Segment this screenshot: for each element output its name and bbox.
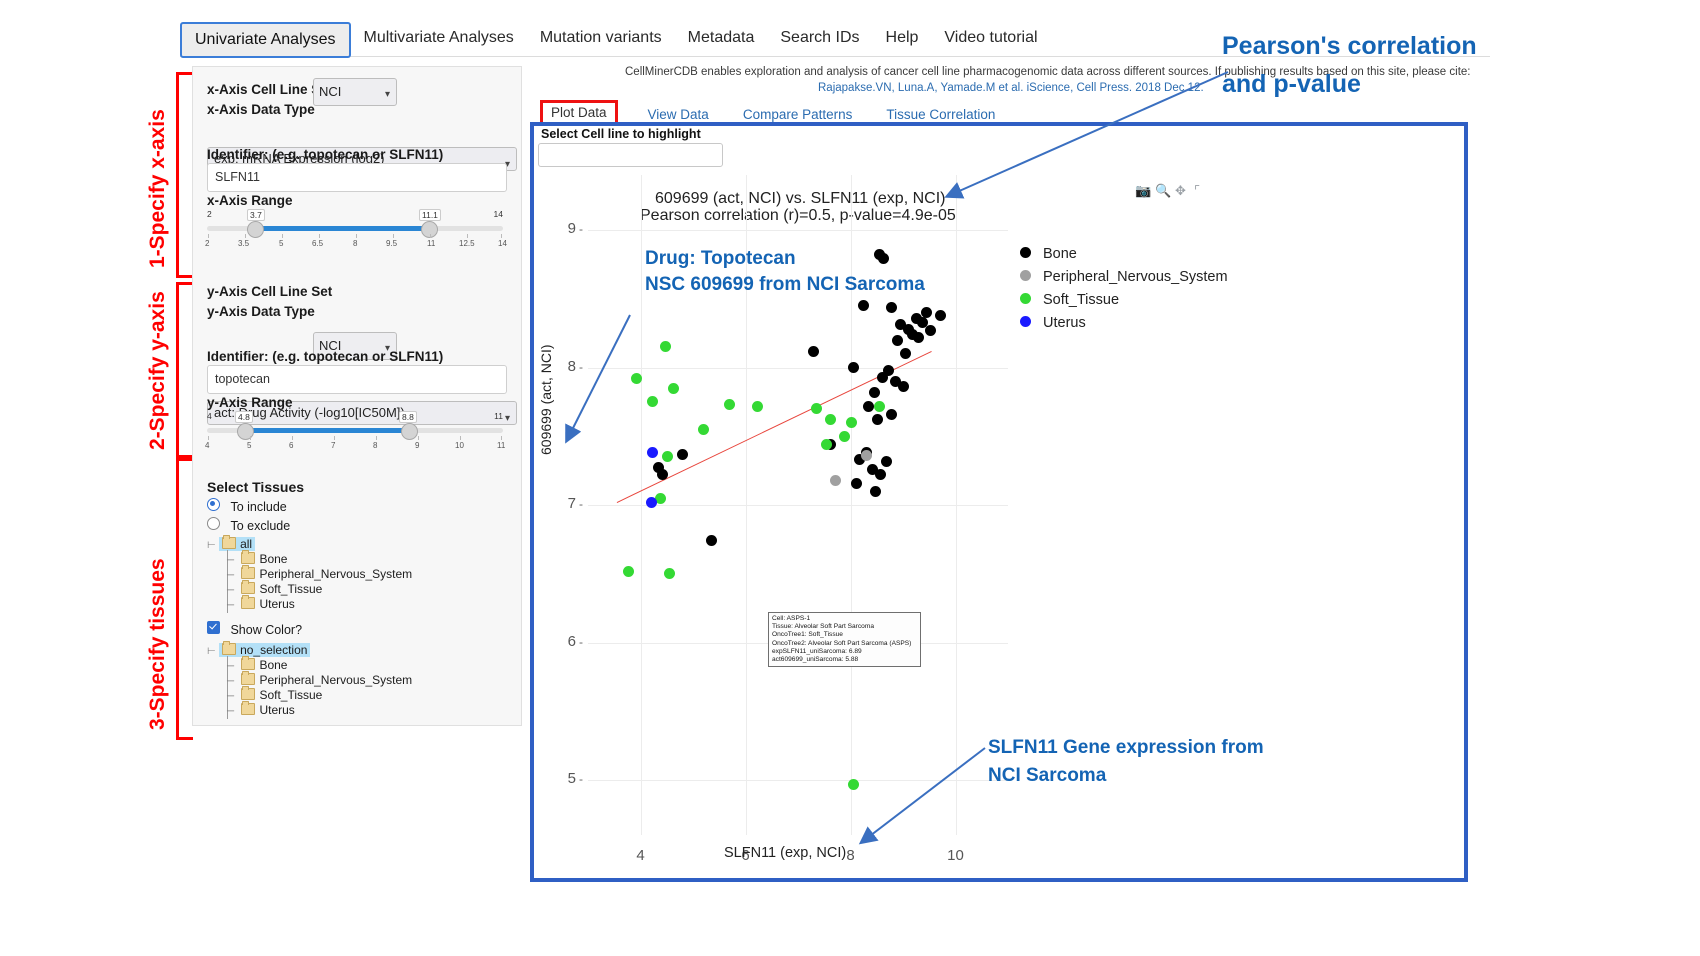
tree-node-no-selection-label: no_selection bbox=[240, 643, 307, 657]
scatter-point[interactable] bbox=[662, 451, 673, 462]
show-color-checkbox[interactable]: Show Color? bbox=[207, 621, 302, 639]
scatter-point[interactable] bbox=[886, 409, 897, 420]
step1-label: 1-Specify x-axis bbox=[146, 109, 170, 268]
x-slider-tick: 8 bbox=[353, 239, 357, 248]
tissue-tree-include: ⊢ all ─ Bone ─ Peripheral_Nervous_System… bbox=[207, 537, 497, 617]
scatter-point[interactable] bbox=[825, 414, 836, 425]
scatter-point[interactable] bbox=[848, 362, 859, 373]
y-axis-tick-label: 5 bbox=[542, 770, 576, 787]
x-slider-tick: 12.5 bbox=[459, 239, 475, 248]
nav-tab-metadata[interactable]: Metadata bbox=[675, 22, 768, 54]
citation-line-2[interactable]: Rajapakse.VN, Luna.A, Yamade.M et al. iS… bbox=[818, 82, 1204, 94]
x-slider-tick: 2 bbox=[205, 239, 209, 248]
plot-subtabs: Plot Data View Data Compare Patterns Tis… bbox=[540, 100, 1240, 124]
legend-label: Peripheral_Nervous_System bbox=[1043, 269, 1228, 285]
tree2-item-peripheral-nervous-system[interactable]: ─ Peripheral_Nervous_System bbox=[227, 673, 412, 687]
y-axis-tick-mark: - bbox=[579, 497, 583, 511]
gene-annotation-line1: SLFN11 Gene expression from bbox=[988, 737, 1264, 759]
zoom-in-icon[interactable]: 🔍 bbox=[1155, 183, 1171, 199]
y-axis-tick-label: 9 bbox=[542, 220, 576, 237]
x-axis-tick-label: 10 bbox=[936, 847, 976, 864]
scatter-point[interactable] bbox=[839, 431, 850, 442]
nav-tab-help[interactable]: Help bbox=[873, 22, 932, 54]
folder-icon bbox=[241, 597, 255, 609]
x-slider-tick: 14 bbox=[498, 239, 507, 248]
step3-label: 3-Specify tissues bbox=[146, 558, 170, 730]
tree-item-peripheral-nervous-system[interactable]: ─ Peripheral_Nervous_System bbox=[227, 567, 412, 581]
step3-bracket bbox=[176, 458, 193, 740]
checkbox-icon bbox=[207, 621, 220, 634]
scatter-point[interactable] bbox=[925, 325, 936, 336]
folder-icon bbox=[241, 688, 255, 700]
folder-icon bbox=[241, 567, 255, 579]
nav-tab-search-ids[interactable]: Search IDs bbox=[767, 22, 872, 54]
legend-item-soft-tissue[interactable]: Soft_Tissue bbox=[1020, 291, 1228, 314]
y-axis-tick-label: 7 bbox=[542, 495, 576, 512]
tree-item-uterus[interactable]: ─ Uterus bbox=[227, 597, 295, 611]
tooltip-line: Tissue: Alveolar Soft Part Sarcoma bbox=[772, 623, 917, 631]
y-slider-handle-low[interactable] bbox=[237, 423, 254, 440]
scatter-point[interactable] bbox=[811, 403, 822, 414]
scatter-point[interactable] bbox=[660, 341, 671, 352]
legend-color-swatch bbox=[1020, 293, 1031, 304]
tissue-tree-no-selection: ⊢ no_selection ─ Bone ─ Peripheral_Nervo… bbox=[207, 643, 497, 723]
tree-item-label: Uterus bbox=[259, 597, 294, 611]
y-axis-identifier-value: topotecan bbox=[215, 372, 270, 386]
scatter-point[interactable] bbox=[913, 332, 924, 343]
gene-annotation-line2: NCI Sarcoma bbox=[988, 765, 1106, 787]
scatter-point[interactable] bbox=[830, 475, 841, 486]
y-axis-tick-mark: - bbox=[579, 635, 583, 649]
scatter-point[interactable] bbox=[900, 348, 911, 359]
y-axis-cellline-label: y-Axis Cell Line Set bbox=[207, 283, 332, 301]
scatter-point[interactable] bbox=[872, 414, 883, 425]
select-tissues-title: Select Tissues bbox=[207, 479, 304, 495]
y-axis-tick-mark: - bbox=[579, 772, 583, 786]
x-axis-identifier-value: SLFN11 bbox=[215, 170, 260, 184]
radio-to-exclude[interactable]: To exclude bbox=[207, 517, 290, 535]
tree-item-soft-tissue[interactable]: ─ Soft_Tissue bbox=[227, 582, 322, 596]
tooltip-line: Cell: ASPS-1 bbox=[772, 615, 917, 623]
x-slider-high-value: 11.1 bbox=[419, 209, 441, 221]
highlight-cellline-label: Select Cell line to highlight bbox=[541, 127, 701, 141]
x-axis-label: SLFN11 (exp, NCI) bbox=[724, 845, 846, 861]
plot-legend: Bone Peripheral_Nervous_System Soft_Tiss… bbox=[1020, 245, 1228, 337]
y-slider-high-value: 8.8 bbox=[399, 411, 417, 423]
scatter-point[interactable] bbox=[878, 253, 889, 264]
y-slider-tick: 6 bbox=[289, 441, 293, 450]
scatter-point[interactable] bbox=[869, 387, 880, 398]
legend-label: Bone bbox=[1043, 246, 1077, 262]
scatter-point[interactable] bbox=[886, 302, 897, 313]
tree-item-label: Uterus bbox=[259, 703, 294, 717]
x-slider-tick: 9.5 bbox=[386, 239, 397, 248]
scatter-point[interactable] bbox=[892, 335, 903, 346]
scatter-point[interactable] bbox=[752, 401, 763, 412]
scatter-point[interactable] bbox=[851, 478, 862, 489]
folder-icon bbox=[241, 582, 255, 594]
highlight-cellline-input[interactable] bbox=[538, 143, 723, 167]
folder-icon bbox=[222, 643, 236, 655]
tooltip-line: OncoTree1: Soft_Tissue bbox=[772, 631, 917, 639]
y-axis-tick-label: 6 bbox=[542, 633, 576, 650]
show-color-label: Show Color? bbox=[230, 623, 302, 637]
scatter-point[interactable] bbox=[875, 469, 886, 480]
scatter-point[interactable] bbox=[664, 568, 675, 579]
radio-include-label: To include bbox=[230, 500, 286, 514]
grid-line-horizontal bbox=[588, 230, 1008, 231]
scatter-point[interactable] bbox=[631, 373, 642, 384]
chevron-down-icon: ▾ bbox=[505, 408, 510, 430]
scatter-point[interactable] bbox=[646, 497, 657, 508]
nav-tab-univariate-analyses[interactable]: Univariate Analyses bbox=[180, 22, 351, 58]
pan-icon[interactable]: ✥ bbox=[1175, 183, 1186, 199]
legend-item-bone[interactable]: Bone bbox=[1020, 245, 1228, 268]
x-slider-handle-low[interactable] bbox=[247, 221, 264, 238]
tooltip-line: act609699_uniSarcoma: 5.88 bbox=[772, 656, 917, 664]
radio-exclude-icon bbox=[207, 517, 220, 530]
scatter-point[interactable] bbox=[808, 346, 819, 357]
x-slider-tick: 3.5 bbox=[238, 239, 249, 248]
y-slider-tick: 10 bbox=[455, 441, 464, 450]
y-slider-min-end: 4 bbox=[207, 411, 212, 421]
y-axis-range-label: y-Axis Range bbox=[207, 395, 293, 410]
legend-item-uterus[interactable]: Uterus bbox=[1020, 314, 1228, 337]
tree2-item-bone[interactable]: ─ Bone bbox=[227, 658, 287, 672]
tree-node-no-selection[interactable]: ⊢ no_selection bbox=[207, 643, 310, 657]
camera-icon[interactable]: 📷 bbox=[1135, 183, 1151, 199]
scatter-point[interactable] bbox=[655, 493, 666, 504]
scatter-point[interactable] bbox=[877, 372, 888, 383]
tree2-item-uterus[interactable]: ─ Uterus bbox=[227, 703, 295, 717]
tree-item-label: Peripheral_Nervous_System bbox=[259, 567, 412, 581]
drug-annotation-line2: NSC 609699 from NCI Sarcoma bbox=[645, 274, 925, 296]
scatter-point[interactable] bbox=[858, 300, 869, 311]
x-axis-cellline-select[interactable]: NCI ▾ bbox=[313, 78, 397, 106]
radio-include-icon bbox=[207, 498, 220, 511]
autoscale-icon[interactable]: ⌜ bbox=[1194, 183, 1200, 199]
scatter-point[interactable] bbox=[898, 381, 909, 392]
y-slider-tick: 4 bbox=[205, 441, 209, 450]
tree-item-label: Bone bbox=[259, 658, 287, 672]
scatter-point[interactable] bbox=[647, 447, 658, 458]
scatter-point[interactable] bbox=[668, 383, 679, 394]
x-axis-identifier-label: Identifier: (e.g. topotecan or SLFN11) bbox=[207, 147, 443, 162]
legend-color-swatch bbox=[1020, 316, 1031, 327]
legend-label: Soft_Tissue bbox=[1043, 292, 1119, 308]
y-slider-tick: 8 bbox=[373, 441, 377, 450]
y-slider-tick: 11 bbox=[497, 441, 505, 450]
tree2-item-soft-tissue[interactable]: ─ Soft_Tissue bbox=[227, 688, 322, 702]
x-axis-tick-label: 4 bbox=[621, 847, 661, 864]
x-axis-datatype-label: x-Axis Data Type bbox=[207, 102, 315, 117]
y-axis-datatype-label: y-Axis Data Type bbox=[207, 304, 315, 319]
y-slider-max-end: 11 bbox=[494, 411, 503, 421]
tree-item-bone[interactable]: ─ Bone bbox=[227, 552, 287, 566]
folder-icon bbox=[241, 552, 255, 564]
scatter-point[interactable] bbox=[870, 486, 881, 497]
y-slider-handle-high[interactable] bbox=[401, 423, 418, 440]
x-axis-range-slider[interactable]: 2 14 3.7 11.1 2 3.5 5 6.5 8 9.5 11 12.5 … bbox=[207, 209, 503, 254]
nav-tab-mutation-variants[interactable]: Mutation variants bbox=[527, 22, 675, 54]
drug-annotation-line1: Drug: Topotecan bbox=[645, 248, 796, 270]
scatter-point[interactable] bbox=[861, 450, 872, 461]
scatter-point[interactable] bbox=[935, 310, 946, 321]
x-axis-range-label: x-Axis Range bbox=[207, 193, 293, 208]
grid-line-horizontal bbox=[588, 780, 1008, 781]
scatter-point[interactable] bbox=[724, 399, 735, 410]
scatter-point[interactable] bbox=[623, 566, 634, 577]
legend-item-peripheral-nervous-system[interactable]: Peripheral_Nervous_System bbox=[1020, 268, 1228, 291]
y-slider-tick: 7 bbox=[331, 441, 335, 450]
scatter-point[interactable] bbox=[706, 535, 717, 546]
pearson-annotation-line1: Pearson's correlation bbox=[1222, 32, 1477, 61]
folder-icon bbox=[222, 537, 236, 549]
folder-icon bbox=[241, 673, 255, 685]
x-axis-identifier-input[interactable]: SLFN11 bbox=[207, 163, 507, 192]
step2-label: 2-Specify y-axis bbox=[146, 291, 170, 450]
scatter-point[interactable] bbox=[698, 424, 709, 435]
nav-tab-multivariate-analyses[interactable]: Multivariate Analyses bbox=[351, 22, 527, 54]
x-axis-cellline-value: NCI bbox=[319, 84, 341, 99]
folder-icon bbox=[241, 703, 255, 715]
legend-label: Uterus bbox=[1043, 315, 1086, 331]
x-slider-max-end: 14 bbox=[494, 209, 503, 219]
x-slider-low-value: 3.7 bbox=[247, 209, 265, 221]
pearson-annotation-line2: and p-value bbox=[1222, 70, 1361, 99]
radio-exclude-label: To exclude bbox=[230, 519, 290, 533]
tree-item-label: Bone bbox=[259, 552, 287, 566]
scatter-point[interactable] bbox=[647, 396, 658, 407]
y-slider-tick: 5 bbox=[247, 441, 251, 450]
y-axis-tick-mark: - bbox=[579, 360, 583, 374]
step1-bracket bbox=[176, 72, 193, 278]
radio-to-include[interactable]: To include bbox=[207, 498, 287, 516]
tooltip-line: OncoTree2: Alveolar Soft Part Sarcoma (A… bbox=[772, 640, 917, 648]
scatter-point[interactable] bbox=[863, 401, 874, 412]
legend-color-swatch bbox=[1020, 270, 1031, 281]
tree-node-all[interactable]: ⊢ all bbox=[207, 537, 255, 551]
point-tooltip: Cell: ASPS-1 Tissue: Alveolar Soft Part … bbox=[768, 612, 921, 667]
scatter-point[interactable] bbox=[846, 417, 857, 428]
folder-icon bbox=[241, 658, 255, 670]
control-sidebar: x-Axis Cell Line Set NCI ▾ x-Axis Data T… bbox=[192, 66, 522, 726]
y-axis-identifier-input[interactable]: topotecan bbox=[207, 365, 507, 394]
grid-line-horizontal bbox=[588, 368, 1008, 369]
scatter-point[interactable] bbox=[881, 456, 892, 467]
tree-node-all-label: all bbox=[240, 537, 252, 551]
y-axis-label: 609699 (act, NCI) bbox=[538, 345, 554, 456]
x-slider-tick: 6.5 bbox=[312, 239, 323, 248]
x-slider-min-end: 2 bbox=[207, 209, 212, 219]
chevron-down-icon: ▾ bbox=[385, 85, 390, 105]
tree-item-label: Soft_Tissue bbox=[259, 582, 322, 596]
x-slider-tick: 11 bbox=[427, 239, 435, 248]
tree-item-label: Soft_Tissue bbox=[259, 688, 322, 702]
tree-item-label: Peripheral_Nervous_System bbox=[259, 673, 412, 687]
y-axis-tick-mark: - bbox=[579, 222, 583, 236]
nav-tab-video-tutorial[interactable]: Video tutorial bbox=[931, 22, 1050, 54]
y-slider-low-value: 4.8 bbox=[235, 411, 253, 423]
scatter-point[interactable] bbox=[677, 449, 688, 460]
x-slider-tick: 5 bbox=[279, 239, 283, 248]
y-slider-tick: 9 bbox=[415, 441, 419, 450]
scatter-point[interactable] bbox=[848, 779, 859, 790]
y-axis-range-slider[interactable]: 4 11 4.8 8.8 4 5 6 7 8 9 10 11 bbox=[207, 411, 503, 456]
tooltip-line: expSLFN11_uniSarcoma: 6.89 bbox=[772, 648, 917, 656]
step2-bracket bbox=[176, 282, 193, 458]
legend-color-swatch bbox=[1020, 247, 1031, 258]
y-axis-identifier-label: Identifier: (e.g. topotecan or SLFN11) bbox=[207, 349, 443, 364]
scatter-point[interactable] bbox=[874, 401, 885, 412]
